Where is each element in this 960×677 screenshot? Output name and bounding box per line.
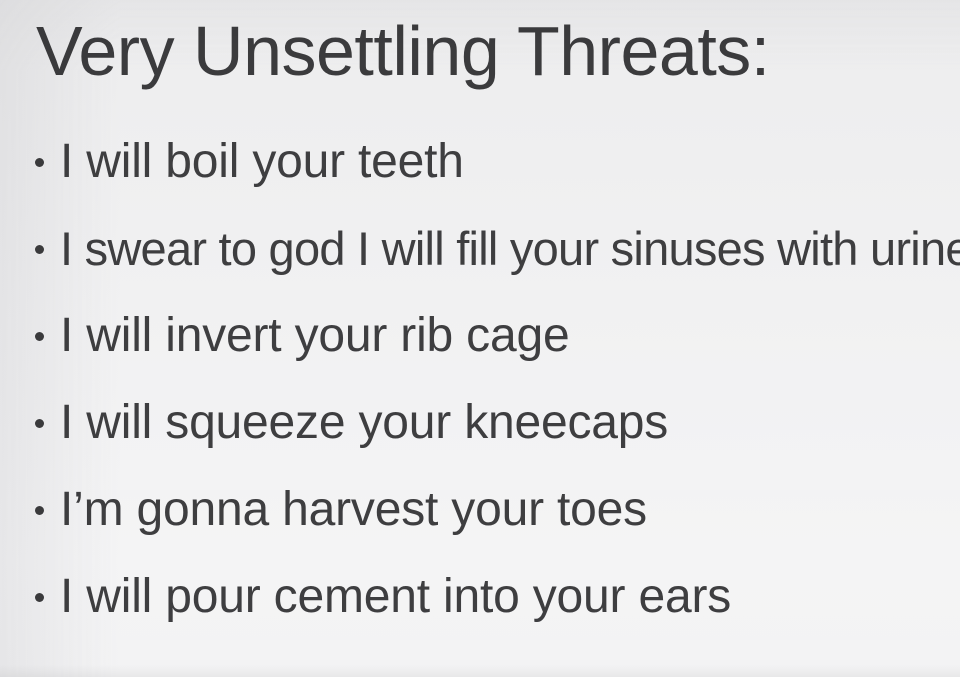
list-item-label: I will invert your rib cage	[60, 308, 569, 364]
list-item-label: I’m gonna harvest your toes	[60, 482, 647, 538]
bullet-icon	[35, 245, 44, 254]
bullet-icon	[35, 158, 44, 167]
bullet-icon	[35, 332, 44, 341]
meme-screenshot: Very Unsettling Threats: I will boil you…	[0, 0, 960, 677]
list-item: I will squeeze your kneecaps	[0, 379, 960, 466]
list-item: I swear to god I will fill your sinuses …	[0, 205, 960, 292]
list-item: I will invert your rib cage	[0, 292, 960, 379]
bullet-icon	[35, 506, 44, 515]
list-item: I’m gonna harvest your toes	[0, 466, 960, 553]
bullet-icon	[35, 419, 44, 428]
bullet-icon	[35, 593, 44, 602]
threat-list: I will boil your teeth I swear to god I …	[0, 118, 960, 640]
list-item-label: I will squeeze your kneecaps	[60, 395, 668, 451]
page-title: Very Unsettling Threats:	[36, 8, 770, 94]
list-item: I will pour cement into your ears	[0, 553, 960, 640]
list-item: I will boil your teeth	[0, 118, 960, 205]
list-item-label: I will pour cement into your ears	[60, 569, 731, 625]
list-item-label: I swear to god I will fill your sinuses …	[60, 221, 960, 277]
list-item-label: I will boil your teeth	[60, 134, 464, 190]
